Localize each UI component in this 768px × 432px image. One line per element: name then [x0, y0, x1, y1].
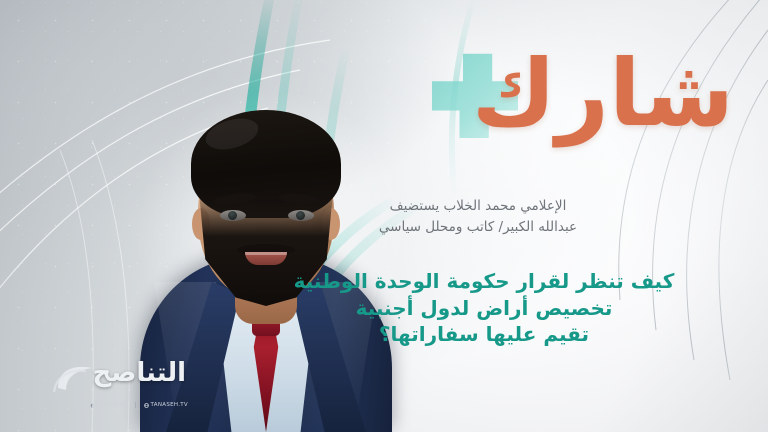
channel-name: التناصح: [92, 358, 186, 388]
question-line-1: كيف تنظر لقرار حكومة الوحدة الوطنية: [274, 268, 694, 295]
subtitle-line-2: عبدالله الكبير/ كاتب ومحلل سياسي: [268, 217, 688, 238]
channel-social-row: TanaselTV TANASEH.TV: [89, 402, 188, 408]
social-website: TANASEH.TV: [144, 402, 188, 408]
program-logo-word: شارك: [472, 48, 734, 140]
question-line-3: تقيم عليها سفاراتها؟: [274, 321, 694, 348]
program-logo: شارك: [404, 48, 734, 170]
channel-bug: التناصح TanaselTV TANASEH.TV: [52, 358, 192, 406]
subtitle-line-1: الإعلامي محمد الخلاب يستضيف: [268, 196, 688, 217]
question-block: كيف تنظر لقرار حكومة الوحدة الوطنية تخصي…: [274, 268, 694, 348]
mouth: [245, 252, 287, 265]
promo-banner: شارك الإعلامي محمد الخلاب يستضيف عبدالله…: [0, 0, 768, 432]
globe-icon: [144, 403, 149, 408]
social-facebook: TanaselTV: [89, 402, 126, 408]
facebook-icon: [89, 403, 94, 408]
subtitle-block: الإعلامي محمد الخلاب يستضيف عبدالله الكب…: [268, 196, 688, 238]
facebook-handle: TanaselTV: [96, 402, 126, 408]
social-separator: [135, 402, 136, 408]
question-line-2: تخصيص أراض لدول أجنبية: [274, 295, 694, 322]
website-handle: TANASEH.TV: [151, 402, 188, 408]
